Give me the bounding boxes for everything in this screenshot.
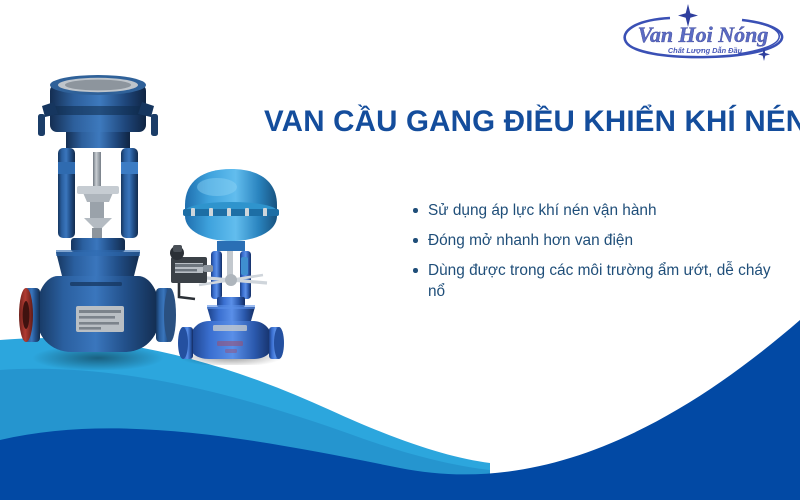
logo-tagline-text: Chất Lượng Dẫn Đầu xyxy=(668,46,743,55)
valve-bonnet xyxy=(207,297,255,321)
feature-text: Sử dụng áp lực khí nén vận hành xyxy=(428,202,657,219)
list-item: Đóng mở nhanh hơn van điện xyxy=(413,230,773,251)
page-title: VAN CẦU GANG ĐIỀU KHIỂN KHÍ NÉN xyxy=(264,104,780,141)
valve-body xyxy=(19,276,176,352)
feature-text: Đóng mở nhanh hơn van điện xyxy=(428,232,633,249)
diaphragm-actuator xyxy=(183,169,279,241)
valve-positioner xyxy=(170,245,213,299)
bullet-icon xyxy=(413,268,418,273)
bullet-icon xyxy=(413,238,418,243)
yoke-assembly xyxy=(58,132,138,240)
list-item: Dùng được trong các môi trường ẩm ướt, d… xyxy=(413,260,773,302)
wave-mid-shape xyxy=(0,369,490,500)
nameplate xyxy=(213,325,247,331)
feature-list: Sử dụng áp lực khí nén vận hành Đóng mở … xyxy=(413,200,773,311)
flange-face-left xyxy=(178,327,188,359)
actuator-housing xyxy=(38,75,158,136)
valve-body xyxy=(178,321,284,359)
feature-text: Dùng được trong các môi trường ẩm ướt, d… xyxy=(428,262,771,300)
list-item: Sử dụng áp lực khí nén vận hành xyxy=(413,200,773,221)
valve-bonnet xyxy=(56,238,140,276)
flange-face-right xyxy=(274,327,284,359)
product-banner: Van Hoi Nóng Chất Lượng Dẫn Đầu VAN CẦU … xyxy=(0,0,800,500)
brand-logo[interactable]: Van Hoi Nóng Chất Lượng Dẫn Đầu xyxy=(612,2,794,64)
logo-brand-text: Van Hoi Nóng xyxy=(638,22,769,47)
bullet-icon xyxy=(413,208,418,213)
content-block: VAN CẦU GANG ĐIỀU KHIỂN KHÍ NÉN Sử dụng … xyxy=(264,104,780,141)
product-image-pneumatic-diaphragm-control-valve xyxy=(155,165,303,365)
